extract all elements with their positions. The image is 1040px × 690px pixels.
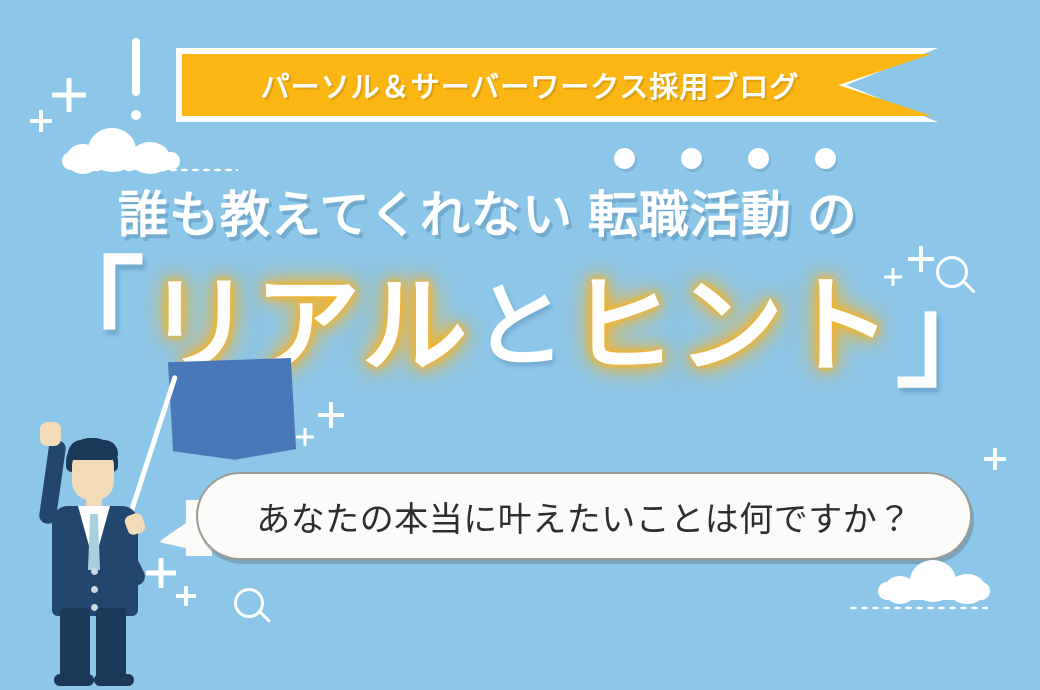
ribbon-banner: パーソル＆サーバーワークス採用ブログ: [182, 54, 932, 116]
sparkle-tl-large: [52, 78, 86, 112]
emphasis-dot: [748, 148, 769, 169]
exclamation-dot: [131, 110, 141, 120]
sparkle-center-small: [296, 428, 314, 446]
speech-bubble: あなたの本当に叶えたいことは何ですか？: [196, 472, 972, 560]
sparkle-tl-small: [30, 110, 52, 132]
dotted-rule-top-left: [80, 168, 238, 172]
sparkle-bl-large: [146, 558, 176, 588]
magnifier-bottom-left: [234, 588, 264, 618]
sparkle-mid-right-large: [908, 246, 934, 272]
sparkle-center-large: [318, 402, 344, 428]
businessman-leg-left: [60, 608, 90, 682]
headline: 誰も教えてくれない 転職活動 の: [118, 176, 938, 246]
businessman-leg-right: [96, 608, 126, 682]
cloud-bottom-right: [878, 560, 990, 600]
businessman-shoe-right: [94, 674, 134, 686]
businessman-shoe-left: [54, 674, 94, 686]
speech-bubble-text: あなたの本当に叶えたいことは何ですか？: [256, 492, 912, 541]
title-plain-part: と: [473, 281, 565, 373]
businessman-hair-front: [68, 440, 118, 460]
emphasis-dot: [681, 148, 702, 169]
sparkle-right-low: [984, 448, 1006, 470]
magnifier-top-right: [936, 256, 968, 288]
title-open-bracket: 「: [33, 256, 145, 368]
sparkle-mid-right-small: [884, 268, 902, 286]
magnifier-handle: [259, 611, 271, 623]
headline-text: 誰も教えてくれない 転職活動 の: [118, 175, 858, 247]
businessman-fist: [40, 422, 61, 446]
businessman-button: [91, 586, 98, 593]
ribbon-banner-label: パーソル＆サーバーワークス採用ブログ: [261, 64, 800, 106]
emphasis-dot: [614, 148, 635, 169]
hero-banner-canvas: パーソル＆サーバーワークス採用ブログ 誰も教えてくれない 転職活動 の 「 リア…: [0, 0, 1040, 690]
businessman-button: [91, 568, 98, 575]
exclamation-bar: [132, 38, 140, 96]
exclamation-mark-decoration: [132, 38, 140, 124]
title-close-bracket: 」: [895, 282, 1007, 394]
sparkle-bl-small: [176, 586, 196, 606]
emphasis-dot: [815, 148, 836, 169]
title-glow-part-2: ヒント: [569, 274, 893, 380]
dotted-rule-bottom-right: [848, 606, 988, 610]
cloud-top-left: [62, 128, 180, 170]
emphasis-dots: [614, 148, 836, 170]
